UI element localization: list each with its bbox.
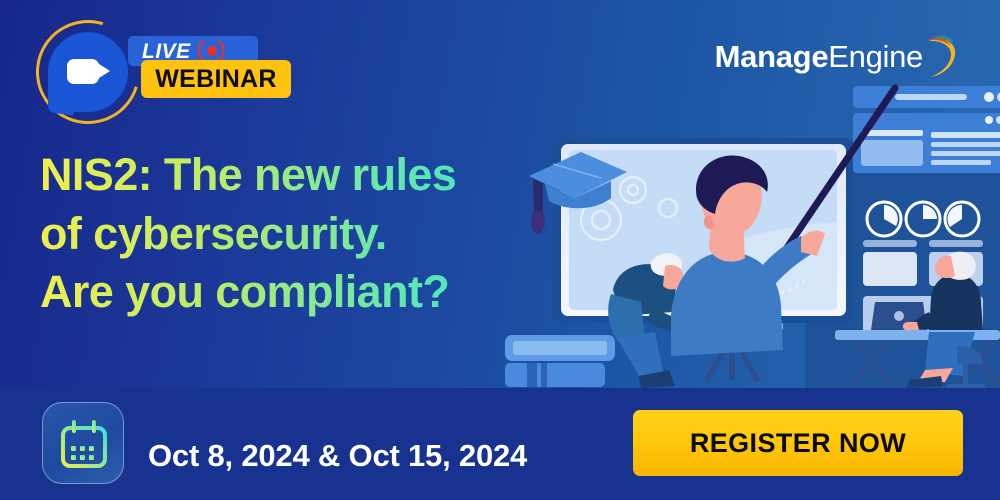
manageengine-logo: Manage Engine [715,35,958,79]
page-title: NIS2: The new rules of cybersecurity. Ar… [40,146,570,322]
headline-line-1: NIS2: The new rules [40,146,570,205]
live-label: LIVE [142,41,191,62]
calendar-icon [42,402,124,484]
book-stack [505,335,615,387]
recording-dot-icon [198,41,224,61]
video-camera-icon [67,59,99,84]
webinar-dates: Oct 8, 2024 & Oct 15, 2024 [148,438,527,474]
live-webinar-badge: LIVE WEBINAR [36,18,296,110]
manageengine-swoosh-icon [924,35,958,79]
headline-line-2: of cybersecurity. [40,205,570,264]
headline-line-3: Are you compliant? [40,263,570,322]
speech-bubble-tail [47,86,76,115]
video-camera-lens-icon [96,62,110,80]
webinar-chip: WEBINAR [141,60,291,98]
webinar-label: WEBINAR [155,65,277,94]
browser-window-panels [853,86,1000,173]
logo-manage-text: Manage [715,39,829,75]
register-now-button[interactable]: REGISTER NOW [633,410,963,476]
webinar-banner: LIVE WEBINAR Manage Engine NIS2: The new… [0,0,1000,500]
webinar-presenter-illustration [505,80,1000,390]
logo-engine-text: Engine [828,39,923,75]
register-button-label: REGISTER NOW [690,428,906,459]
bottom-bar: Oct 8, 2024 & Oct 15, 2024 REGISTER NOW [0,388,1000,500]
